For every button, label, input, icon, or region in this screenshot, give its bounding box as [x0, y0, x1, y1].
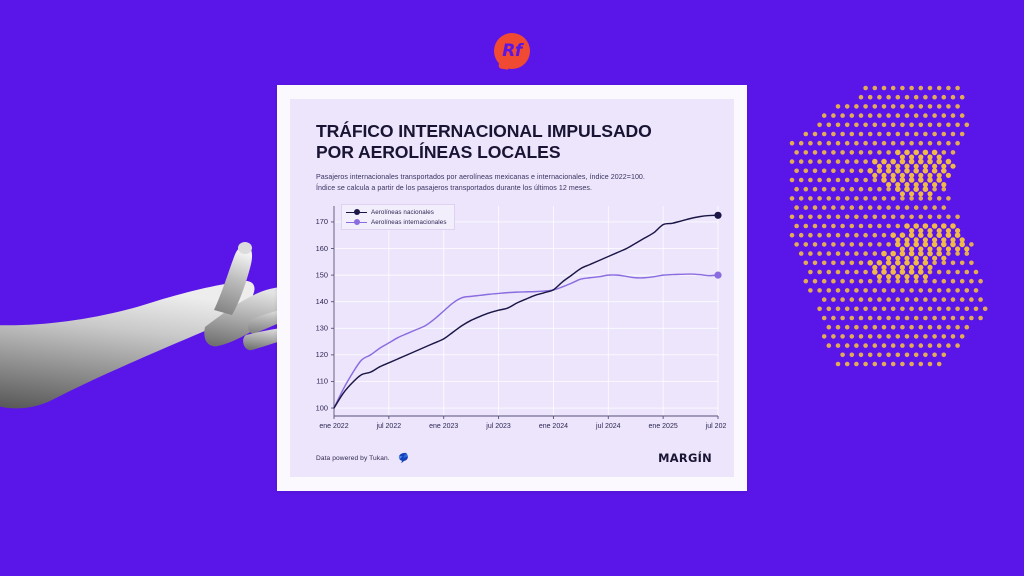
map-dot	[918, 246, 923, 251]
map-dot	[845, 325, 850, 330]
map-dot	[950, 237, 955, 242]
map-dot	[895, 274, 900, 279]
map-dot	[822, 205, 827, 210]
map-dot	[877, 95, 882, 100]
map-dot	[882, 307, 887, 312]
map-dot	[900, 307, 905, 312]
map-dot	[854, 196, 859, 201]
map-dot	[827, 270, 832, 275]
map-dot	[868, 353, 873, 358]
map-dot	[891, 104, 896, 109]
map-dot	[850, 150, 855, 155]
map-dot	[937, 123, 942, 128]
y-tick-label: 120	[316, 351, 328, 360]
map-dot	[799, 251, 804, 256]
map-dot	[937, 246, 942, 251]
map-dot	[863, 288, 868, 293]
map-dot	[932, 237, 937, 242]
map-dot	[905, 353, 910, 358]
map-dot	[891, 325, 896, 330]
map-dot	[854, 178, 859, 183]
map-dot	[913, 168, 919, 174]
legend-item[interactable]: Aerolíneas internacionales	[346, 218, 447, 226]
map-dot	[863, 343, 868, 348]
map-dot	[932, 223, 938, 229]
map-dot	[932, 113, 937, 118]
map-dot	[850, 205, 855, 210]
map-dot	[942, 187, 947, 192]
map-dot	[932, 242, 938, 248]
map-dot	[808, 233, 813, 238]
map-dot	[942, 95, 947, 100]
map-dot	[813, 242, 818, 247]
map-dot	[942, 353, 947, 358]
map-dot	[868, 334, 873, 339]
map-dot	[808, 178, 813, 183]
map-dot	[859, 132, 864, 137]
map-dot	[909, 123, 914, 128]
map-dot	[927, 246, 932, 251]
map-dot	[868, 95, 873, 100]
map-dot	[909, 265, 914, 270]
map-dot	[881, 251, 887, 257]
map-dot	[914, 164, 919, 169]
map-dot	[918, 228, 923, 233]
map-dot	[845, 233, 850, 238]
map-dot	[873, 123, 878, 128]
map-dot	[914, 95, 919, 100]
map-dot	[877, 150, 882, 155]
map-dot	[937, 325, 942, 330]
map-dot	[928, 325, 933, 330]
map-dot	[909, 177, 915, 183]
map-dot	[886, 132, 891, 137]
map-dot	[873, 215, 878, 220]
map-dot	[932, 297, 937, 302]
map-dot	[946, 173, 951, 178]
map-dot	[831, 169, 836, 174]
map-dot	[794, 242, 799, 247]
map-dot	[900, 154, 905, 159]
map-dot	[896, 224, 901, 229]
map-dot	[836, 123, 841, 128]
map-dot	[978, 279, 983, 284]
line-chart: 100110120130140150160170ene 2022jul 2022…	[294, 200, 726, 442]
map-dot	[808, 196, 813, 201]
map-dot	[836, 307, 841, 312]
map-dot	[942, 205, 947, 210]
map-dot	[951, 279, 956, 284]
map-dot	[859, 279, 864, 284]
map-dot	[914, 297, 919, 302]
map-dot	[863, 215, 868, 220]
map-dot	[905, 113, 910, 118]
map-dot	[927, 154, 932, 159]
map-dot	[928, 196, 933, 201]
map-dot	[932, 205, 937, 210]
map-dot	[886, 353, 891, 358]
series-line-internacionales	[334, 275, 718, 409]
map-dot	[955, 123, 960, 128]
map-dot	[850, 316, 855, 321]
map-dot	[882, 123, 887, 128]
map-dot	[817, 196, 822, 201]
map-dot	[886, 205, 891, 210]
map-dot	[877, 132, 882, 137]
map-dot	[896, 279, 901, 284]
map-dot	[896, 316, 901, 321]
map-dot	[942, 334, 947, 339]
map-dot	[919, 123, 924, 128]
chart-legend: Aerolíneas nacionales Aerolíneas interna…	[341, 204, 455, 230]
map-dot	[845, 141, 850, 146]
halftone-dot-map	[788, 82, 993, 377]
map-dot	[822, 132, 827, 137]
map-dot	[813, 150, 818, 155]
map-dot	[840, 334, 845, 339]
map-dot	[813, 169, 818, 174]
map-dot	[827, 288, 832, 293]
map-dot	[946, 228, 951, 233]
map-dot	[923, 223, 929, 229]
map-dot	[836, 270, 841, 275]
map-dot	[927, 265, 932, 270]
map-dot	[946, 86, 951, 91]
map-dot	[813, 187, 818, 192]
map-dot	[900, 173, 905, 178]
map-dot	[840, 261, 845, 266]
map-dot	[974, 288, 979, 293]
map-dot	[928, 215, 933, 220]
map-dot	[896, 113, 901, 118]
map-dot	[831, 297, 836, 302]
map-dot	[822, 113, 827, 118]
y-tick-label: 110	[316, 377, 328, 386]
map-dot	[904, 223, 910, 229]
map-dot	[859, 205, 864, 210]
map-dot	[946, 270, 951, 275]
map-dot	[836, 178, 841, 183]
map-dot	[946, 251, 951, 256]
map-dot	[881, 173, 886, 178]
map-dot	[919, 141, 924, 146]
map-dot	[886, 279, 891, 284]
map-dot	[960, 113, 965, 118]
map-dot	[850, 334, 855, 339]
map-dot	[872, 265, 877, 270]
map-dot	[909, 246, 914, 251]
map-dot	[831, 261, 836, 266]
map-dot	[827, 325, 832, 330]
map-dot	[877, 224, 882, 229]
map-dot	[919, 343, 924, 348]
map-dot	[955, 104, 960, 109]
map-dot	[831, 316, 836, 321]
map-dot	[896, 132, 901, 137]
map-dot	[867, 260, 873, 266]
map-dot	[983, 307, 988, 312]
map-dot	[890, 232, 896, 238]
map-dot	[965, 123, 970, 128]
map-dot	[904, 242, 910, 248]
map-dot	[965, 325, 970, 330]
map-dot	[900, 269, 906, 275]
map-dot	[964, 246, 969, 251]
map-dot	[919, 196, 924, 201]
map-dot	[914, 353, 919, 358]
map-dot	[900, 288, 905, 293]
map-dot	[845, 104, 850, 109]
map-dot	[895, 260, 901, 266]
map-dot	[904, 274, 909, 279]
map-dot	[854, 251, 859, 256]
map-dot	[882, 141, 887, 146]
map-dot	[960, 334, 965, 339]
map-dot	[909, 288, 914, 293]
map-dot	[882, 104, 887, 109]
map-dot	[946, 215, 951, 220]
map-dot	[900, 86, 905, 91]
map-dot	[790, 233, 795, 238]
map-dot	[867, 168, 873, 174]
map-dot	[955, 86, 960, 91]
map-dot	[873, 251, 878, 256]
map-dot	[932, 353, 937, 358]
map-dot	[909, 141, 914, 146]
map-dot	[923, 237, 928, 242]
map-dot	[863, 86, 868, 91]
map-dot	[942, 316, 947, 321]
map-dot	[877, 242, 882, 247]
legend-item[interactable]: Aerolíneas nacionales	[346, 208, 447, 216]
map-dot	[794, 187, 799, 192]
map-dot	[859, 169, 864, 174]
map-dot	[942, 279, 947, 284]
map-dot	[946, 196, 951, 201]
map-dot	[955, 232, 961, 238]
map-dot	[946, 325, 951, 330]
map-dot	[873, 343, 878, 348]
map-dot	[813, 132, 818, 137]
map-dot	[955, 215, 960, 220]
map-dot	[854, 288, 859, 293]
map-dot	[817, 178, 822, 183]
brand-logo-mark: Rf	[494, 33, 530, 69]
map-dot	[914, 256, 919, 261]
map-dot	[904, 150, 910, 156]
map-dot	[932, 256, 937, 261]
x-tick-label: ene 2025	[649, 423, 678, 430]
map-dot	[850, 224, 855, 229]
map-dot	[822, 224, 827, 229]
map-dot	[808, 270, 813, 275]
map-dot	[941, 237, 946, 242]
map-dot	[904, 164, 909, 169]
map-dot	[831, 187, 836, 192]
y-tick-label: 100	[316, 404, 328, 413]
map-dot	[804, 279, 809, 284]
map-dot	[881, 269, 887, 275]
map-dot	[923, 186, 929, 192]
map-dot	[804, 242, 809, 247]
map-dot	[928, 141, 933, 146]
map-dot	[890, 269, 896, 275]
map-dot	[909, 154, 914, 159]
map-dot	[854, 270, 859, 275]
map-dot	[951, 95, 956, 100]
map-dot	[960, 261, 965, 266]
map-dot	[904, 256, 909, 261]
plot-area: 100110120130140150160170ene 2022jul 2022…	[294, 200, 726, 443]
map-dot	[904, 186, 910, 192]
map-dot	[905, 132, 910, 137]
map-dot	[808, 215, 813, 220]
map-dot	[941, 223, 947, 229]
map-dot	[923, 150, 929, 156]
map-dot	[799, 215, 804, 220]
map-dot	[900, 141, 905, 146]
map-dot	[859, 297, 864, 302]
chart-header: TRÁFICO INTERNACIONAL IMPULSADO POR AERO…	[290, 99, 734, 194]
map-dot	[913, 260, 919, 266]
map-dot	[831, 334, 836, 339]
map-dot	[877, 168, 883, 174]
map-dot	[822, 242, 827, 247]
map-dot	[813, 205, 818, 210]
map-dot	[946, 343, 951, 348]
map-dot	[936, 177, 942, 183]
map-dot	[928, 104, 933, 109]
map-dot	[790, 178, 795, 183]
map-dot	[923, 334, 928, 339]
x-tick-label: ene 2023	[429, 423, 458, 430]
map-dot	[928, 362, 933, 367]
map-dot	[817, 288, 822, 293]
x-tick-label: jul 2023	[485, 423, 511, 430]
map-dot	[804, 261, 809, 266]
map-dot	[836, 288, 841, 293]
map-dot	[877, 260, 883, 266]
map-dot	[937, 362, 942, 367]
map-dot	[900, 196, 905, 201]
map-dot	[891, 288, 896, 293]
map-dot	[896, 205, 901, 210]
map-dot	[951, 150, 956, 155]
map-dot	[923, 274, 928, 279]
map-dot	[845, 196, 850, 201]
map-dot	[886, 224, 891, 229]
map-dot	[969, 297, 974, 302]
map-dot	[868, 224, 873, 229]
map-dot	[900, 343, 905, 348]
map-dot	[836, 104, 841, 109]
map-dot	[794, 205, 799, 210]
map-dot	[909, 228, 914, 233]
map-dot	[955, 307, 960, 312]
map-dot	[882, 362, 887, 367]
map-dot	[872, 173, 877, 178]
series-line-nacionales	[334, 216, 718, 409]
x-tick-label: ene 2022	[319, 423, 348, 430]
map-dot	[836, 215, 841, 220]
map-dot	[914, 205, 919, 210]
series-end-marker-internacionales	[714, 272, 721, 279]
map-dot	[932, 164, 937, 169]
map-dot	[914, 113, 919, 118]
map-dot	[927, 228, 932, 233]
map-dot	[937, 154, 942, 159]
map-dot	[900, 159, 906, 165]
map-dot	[822, 261, 827, 266]
map-dot	[877, 187, 882, 192]
map-dot	[909, 343, 914, 348]
map-dot	[836, 141, 841, 146]
map-dot	[827, 123, 832, 128]
map-dot	[923, 353, 928, 358]
map-dot	[850, 169, 855, 174]
map-dot	[900, 215, 905, 220]
map-dot	[836, 159, 841, 164]
map-dot	[927, 232, 933, 238]
map-dot	[895, 186, 901, 192]
map-dot	[946, 246, 951, 251]
map-dot	[859, 113, 864, 118]
map-dot	[914, 132, 919, 137]
map-dot	[804, 224, 809, 229]
map-dot	[794, 169, 799, 174]
map-dot	[905, 316, 910, 321]
map-dot	[873, 288, 878, 293]
map-dot	[942, 150, 947, 155]
map-dot	[914, 182, 919, 187]
map-dot	[905, 95, 910, 100]
margin-brand-logo: MARGÍN	[658, 451, 712, 465]
map-dot	[886, 95, 891, 100]
map-dot	[919, 86, 924, 91]
map-dot	[928, 86, 933, 91]
x-tick-label: jul 2022	[376, 423, 402, 430]
map-dot	[840, 205, 845, 210]
map-dot	[886, 274, 891, 279]
map-dot	[978, 316, 983, 321]
map-dot	[868, 297, 873, 302]
map-dot	[863, 123, 868, 128]
map-dot	[951, 113, 956, 118]
map-dot	[941, 182, 946, 187]
map-dot	[946, 307, 951, 312]
map-dot	[799, 141, 804, 146]
map-dot	[808, 141, 813, 146]
map-dot	[969, 279, 974, 284]
map-dot	[909, 325, 914, 330]
map-dot	[877, 279, 882, 284]
map-dot	[900, 177, 906, 183]
map-dot	[918, 269, 924, 275]
map-dot	[863, 307, 868, 312]
map-dot	[831, 132, 836, 137]
map-dot	[863, 270, 868, 275]
map-dot	[960, 279, 965, 284]
map-dot	[854, 343, 859, 348]
map-dot	[905, 297, 910, 302]
map-dot	[850, 353, 855, 358]
map-dot	[923, 132, 928, 137]
map-dot	[895, 242, 901, 248]
map-dot	[913, 242, 919, 248]
map-dot	[913, 150, 919, 156]
x-tick-label: jul 2025	[705, 423, 726, 430]
map-dot	[804, 132, 809, 137]
